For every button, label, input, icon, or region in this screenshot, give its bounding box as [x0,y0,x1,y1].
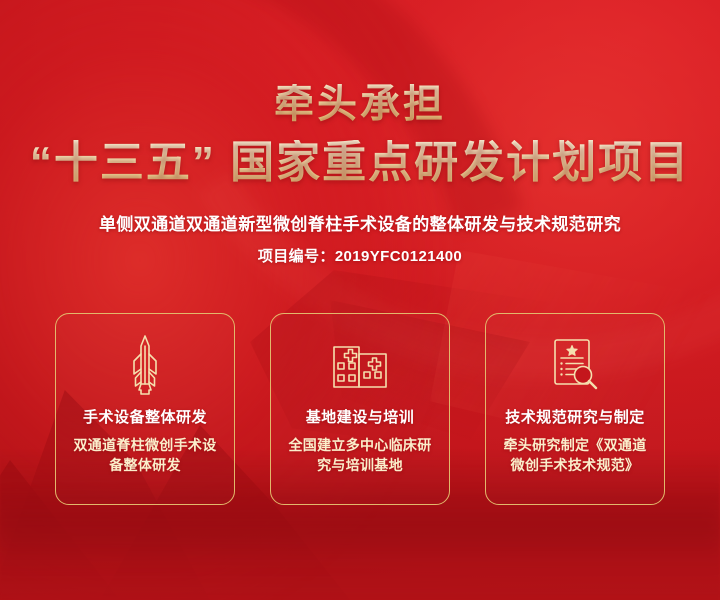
headline-large: “十三五” 国家重点研发计划项目 [0,140,720,186]
project-subtitle: 单侧双通道双通道新型微创脊柱手术设备的整体研发与技术规范研究 [0,210,720,235]
feature-card-description: 牵头研究制定《双通道微创手术技术规范》 [497,435,653,476]
feature-card-description: 全国建立多中心临床研究与培训基地 [282,435,438,476]
promo-poster: 牵头承担 “十三五” 国家重点研发计划项目 单侧双通道双通道新型微创脊柱手术设备… [0,0,720,600]
headline-small: 牵头承担 [0,84,720,124]
feature-card-title: 基地建设与培训 [306,406,415,427]
feature-card-title: 手术设备整体研发 [83,406,207,427]
feature-card-description: 双通道脊柱微创手术设备整体研发 [67,435,223,476]
feature-card-list: 手术设备整体研发 双通道脊柱微创手术设备整体研发 [55,313,665,505]
feature-card[interactable]: 技术规范研究与制定 牵头研究制定《双通道微创手术技术规范》 [485,313,665,505]
rocket-icon [128,334,162,396]
poster-content: 牵头承担 “十三五” 国家重点研发计划项目 单侧双通道双通道新型微创脊柱手术设备… [0,0,720,600]
feature-card[interactable]: 基地建设与培训 全国建立多中心临床研究与培训基地 [270,313,450,505]
project-number: 项目编号：2019YFC0121400 [0,245,720,266]
document-magnifier-icon [549,334,601,396]
feature-card-title: 技术规范研究与制定 [505,406,645,427]
feature-card[interactable]: 手术设备整体研发 双通道脊柱微创手术设备整体研发 [55,313,235,505]
hospital-building-icon [331,334,389,396]
